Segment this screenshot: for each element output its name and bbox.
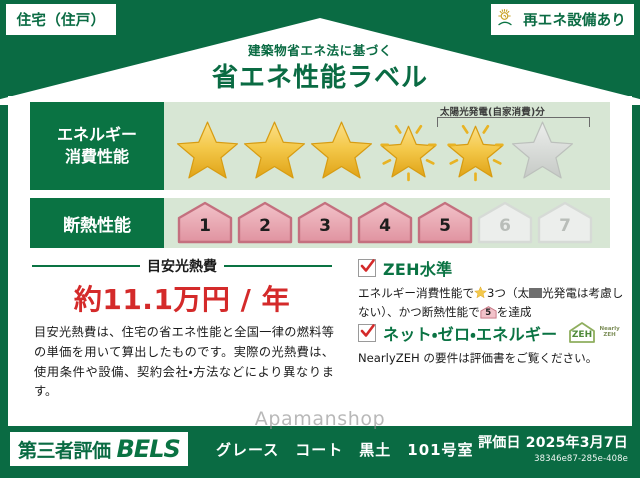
zeh-logo-sub2: ZEH <box>603 332 615 338</box>
zeh-house-icon: ZEH <box>567 321 597 345</box>
insulation-level-3-number: 3 <box>296 216 354 236</box>
insulation-level-2: 2 <box>236 201 294 245</box>
renewable-equipment-label: 再エネ設備あり <box>523 9 626 30</box>
zeh-standard-block: ZEH水準 エネルギー消費性能で3つ（太光発電は考慮しない）、かつ断熱性能で5を… <box>358 256 624 321</box>
star-filled-solar-4 <box>375 118 442 182</box>
energy-performance-row: エネルギー 消費性能 太陽光発電(自家消費)分 <box>30 102 610 190</box>
insulation-level-7-number: 7 <box>536 216 594 236</box>
watermark: Apamanshop <box>0 408 640 430</box>
insulation-level-scale: 1 2 3 <box>176 201 594 245</box>
housing-type-badge: 住宅（住戸） <box>6 4 116 35</box>
estimated-cost-heading-text: 目安光熱費 <box>147 256 217 276</box>
insulation-level-2-number: 2 <box>236 216 294 236</box>
zeh-standard-checkbox[interactable] <box>358 259 376 277</box>
check-icon <box>359 322 376 339</box>
insulation-level-4-number: 4 <box>356 216 414 236</box>
zeh-text-a: エネルギー消費性能で <box>358 286 474 300</box>
net-zero-note: NearlyZEH の要件は評価書をご覧ください。 <box>358 349 628 368</box>
evaluation-code: 38346e87-285e-408e <box>478 454 628 464</box>
zeh-standard-title-row: ZEH水準 <box>358 256 624 280</box>
bels-logo-en: BELS <box>117 435 180 463</box>
inline-insulation-level-number: 5 <box>480 307 497 321</box>
zeh-logo-sub: Nearly ZEH <box>599 327 619 339</box>
net-zero-title-row: ネット・ゼロ・エネルギー ZEH Nearly ZEH <box>358 321 628 345</box>
heading-rule-right <box>224 265 332 267</box>
check-icon <box>359 257 376 274</box>
label-card: エネルギー 消費性能 太陽光発電(自家消費)分 <box>8 96 632 426</box>
bels-logo: 第三者評価 BELS <box>10 432 188 466</box>
housing-type-label: 住宅（住戸） <box>17 9 106 30</box>
footer-bar: 第三者評価 BELS グレース コート 黒土 101号室 評価日 2025年3月… <box>0 426 640 478</box>
star-filled-solar-5 <box>442 118 509 182</box>
bels-logo-jp: 第三者評価 <box>18 436 111 463</box>
insulation-level-6: 6 <box>476 201 534 245</box>
insulation-level-4: 4 <box>356 201 414 245</box>
estimated-cost-value: 約11.1万円 / 年 <box>32 278 332 318</box>
evaluation-date: 評価日 2025年3月7日 <box>478 432 628 452</box>
header-title: 省エネ性能ラベル <box>0 57 640 94</box>
svg-text:ZEH: ZEH <box>572 330 592 340</box>
insulation-levels-panel: 1 2 3 <box>164 198 610 248</box>
energy-label-line1: エネルギー <box>57 124 137 146</box>
insulation-level-3: 3 <box>296 201 354 245</box>
energy-stars-panel: 太陽光発電(自家消費)分 <box>164 102 610 190</box>
insulation-level-5-number: 5 <box>416 216 474 236</box>
estimated-cost-note: 目安光熱費は、住宅の省エネ性能と全国一律の燃料等の単価を用いて算出したものです。… <box>34 323 334 402</box>
zeh-standard-title: ZEH水準 <box>383 256 452 280</box>
zeh-house-logo: ZEH Nearly ZEH <box>567 321 619 345</box>
zeh-text-b: 3つ（太 <box>487 286 529 300</box>
heading-rule-left <box>32 265 140 267</box>
net-zero-energy-block: ネット・ゼロ・エネルギー ZEH Nearly ZEH NearlyZEH の要… <box>358 321 628 368</box>
insulation-level-1: 1 <box>176 201 234 245</box>
zeh-text-d: を達成 <box>497 305 532 319</box>
insulation-label: 断熱性能 <box>63 211 131 236</box>
insulation-level-7: 7 <box>536 201 594 245</box>
inline-insulation-level-icon: 5 <box>480 306 497 320</box>
property-name: グレース コート 黒土 101号室 <box>216 439 474 460</box>
inline-star-icon <box>474 286 487 299</box>
insulation-level-5: 5 <box>416 201 474 245</box>
insulation-level-1-number: 1 <box>176 216 234 236</box>
energy-label-line2: 消費性能 <box>65 146 129 168</box>
star-empty-6 <box>509 118 576 182</box>
insulation-performance-label-box: 断熱性能 <box>30 198 164 248</box>
evaluation-info: 評価日 2025年3月7日 38346e87-285e-408e <box>478 432 628 464</box>
insulation-level-6-number: 6 <box>476 216 534 236</box>
star-filled-2 <box>241 118 308 182</box>
net-zero-title: ネット・ゼロ・エネルギー <box>383 321 557 345</box>
star-filled-1 <box>174 118 241 182</box>
net-zero-checkbox[interactable] <box>358 324 376 342</box>
renewable-equipment-badge: 再エネ設備あり <box>491 4 634 35</box>
redacted-block <box>529 288 542 298</box>
zeh-standard-description: エネルギー消費性能で3つ（太光発電は考慮しない）、かつ断熱性能で5を達成 <box>358 284 624 321</box>
solar-annotation-text: 太陽光発電(自家消費)分 <box>440 104 545 118</box>
energy-performance-label: 住宅（住戸） 再エネ設備あり 建築物省エネ法に基づく 省エネ性能ラベル <box>0 0 640 478</box>
insulation-performance-row: 断熱性能 1 <box>30 198 610 248</box>
energy-performance-label-box: エネルギー 消費性能 <box>30 102 164 190</box>
star-rating <box>174 118 576 182</box>
star-filled-3 <box>308 118 375 182</box>
sun-solar-icon <box>497 7 519 33</box>
estimated-cost-heading: 目安光熱費 <box>32 258 332 274</box>
